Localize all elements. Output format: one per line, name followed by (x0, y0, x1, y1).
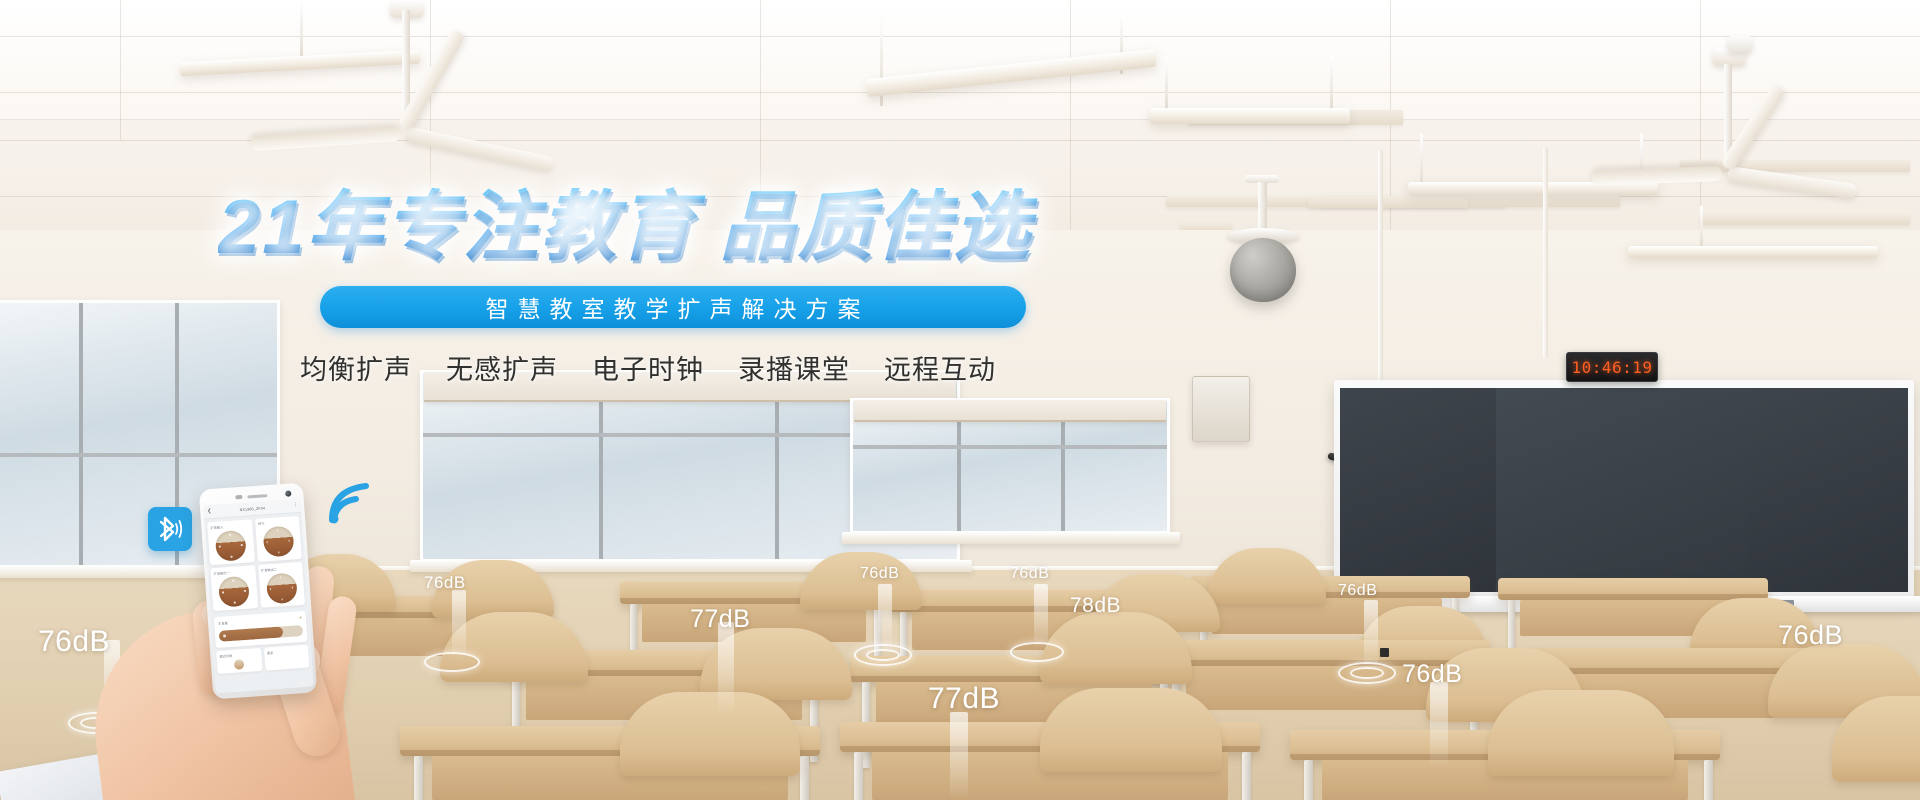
window-blind-right (854, 400, 1166, 422)
mode-indicator (234, 659, 245, 670)
feature-item: 远程互动 (884, 348, 996, 387)
plus-icon[interactable]: + (299, 616, 302, 621)
front-camera (285, 490, 291, 496)
bottom-button-row: 模式切换 更多 (213, 644, 313, 677)
knob-card[interactable]: 扩音输出二 (258, 562, 305, 608)
volume-knob[interactable] (262, 525, 294, 557)
db-label: 76dB (1402, 660, 1462, 689)
db-label: 76dB (424, 573, 466, 593)
bluetooth-badge (148, 507, 192, 551)
more-button-label: 更多 (267, 648, 306, 656)
banner-stage: 10:46:19 (0, 0, 1920, 800)
volume-slider[interactable] (219, 625, 304, 642)
db-label: 76dB (1010, 565, 1049, 583)
knob-card[interactable]: 扩音输出一 (210, 565, 257, 611)
knob-card[interactable]: MP3 (254, 516, 301, 562)
db-label: 76dB (1778, 620, 1843, 651)
headline-block: 21年专注教育 品质佳选 (218, 186, 1218, 270)
app-title: NX1360_ZF04 (214, 504, 290, 513)
knob-label: MP3 (258, 519, 297, 526)
knob-label: 扩音输出二 (261, 565, 300, 573)
ceiling-light-fixture (1150, 108, 1350, 124)
phone-screen[interactable]: ❮ NX1360_ZF04 ⋮ 扩音输入 MP3 (203, 499, 314, 693)
clock-time: 10:46:19 (1571, 358, 1652, 377)
knob-card-grid: 扩音输入 MP3 扩音输出一 (204, 513, 308, 615)
knob-card[interactable]: 扩音输入 (207, 519, 254, 565)
bluetooth-icon (157, 514, 183, 544)
slider-fill (219, 626, 283, 641)
more-button[interactable]: 更多 (263, 645, 309, 671)
wall-control-panel (1192, 376, 1250, 442)
db-label: 77dB (928, 682, 1000, 716)
interactive-blackboard[interactable] (1334, 380, 1914, 600)
page-title: 21年专注教育 品质佳选 (218, 186, 1218, 270)
feature-item: 电子时钟 (592, 348, 704, 387)
db-label: 77dB (690, 605, 750, 634)
knob-label: 扩音输入 (210, 522, 249, 530)
ceiling-speaker-dome (1230, 238, 1296, 302)
projector-mount (1728, 36, 1752, 52)
smartphone[interactable]: ❮ NX1360_ZF04 ⋮ 扩音输入 MP3 (199, 483, 317, 700)
feature-item: 均衡扩声 (300, 348, 412, 387)
db-label: 76dB (38, 625, 110, 659)
feature-item: 无感扩声 (446, 348, 558, 387)
volume-knob[interactable] (266, 572, 298, 604)
chevron-left-icon[interactable]: ❮ (207, 509, 212, 514)
earpiece-speaker (247, 494, 267, 498)
volume-knob[interactable] (218, 576, 250, 608)
mode-button[interactable]: 模式切换 (216, 648, 262, 674)
db-label: 76dB (860, 565, 899, 583)
master-volume-card[interactable]: 主音量 + (214, 611, 308, 648)
more-options-icon[interactable]: ⋮ (293, 503, 297, 508)
feature-item: 录播课堂 (738, 348, 850, 387)
subtitle-pill: 智慧教室教学扩声解决方案 (320, 286, 1026, 328)
volume-knob[interactable] (215, 530, 247, 562)
db-label: 78dB (1070, 594, 1121, 618)
subtitle-text: 智慧教室教学扩声解决方案 (477, 290, 870, 324)
digital-wall-clock: 10:46:19 (1566, 352, 1658, 382)
wifi-signal-icon (326, 480, 378, 526)
ceiling-light-fixture (1628, 246, 1878, 258)
wifi-signal-indicator (326, 480, 378, 526)
proximity-sensor (236, 495, 243, 499)
knob-label: 扩音输出一 (214, 568, 253, 576)
db-label: 76dB (1338, 582, 1377, 600)
feature-list: 均衡扩声 无感扩声 电子时钟 录播课堂 远程互动 (300, 348, 1100, 387)
slider-label: 主音量 (218, 620, 228, 626)
mode-button-label: 模式切换 (219, 651, 258, 659)
